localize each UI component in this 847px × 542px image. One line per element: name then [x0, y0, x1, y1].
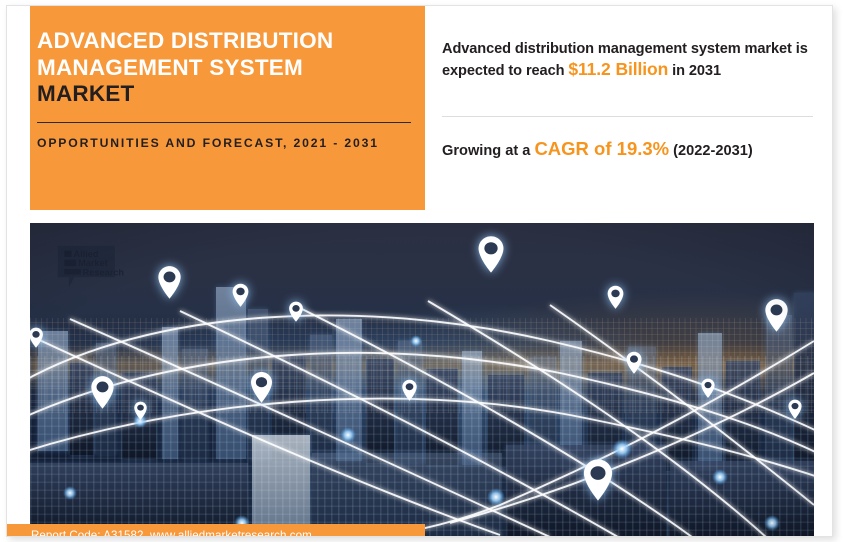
market-value-figure: $11.2 Billion: [568, 59, 668, 79]
report-card: ADVANCED DISTRIBUTION MANAGEMENT SYSTEM …: [6, 5, 833, 537]
title-line-2: MANAGEMENT SYSTEM: [37, 55, 405, 82]
allied-market-research-logo: Allied Market Research: [56, 244, 148, 292]
report-subtitle: OPPORTUNITIES AND FORECAST, 2021 - 2031: [37, 134, 413, 153]
cagr-statement: Growing at a CAGR of 19.3% (2022-2031): [442, 139, 817, 161]
cagr-period: (2022-2031): [669, 143, 753, 159]
market-value-statement: Advanced distribution management system …: [442, 40, 814, 81]
market-value-suffix: in 2031: [668, 63, 721, 79]
highlights-divider: [442, 116, 813, 117]
title-line-3: MARKET: [37, 81, 405, 108]
page-title: ADVANCED DISTRIBUTION MANAGEMENT SYSTEM …: [37, 28, 405, 108]
logo-line-3: Research: [83, 267, 125, 277]
cagr-prefix: Growing at a: [442, 143, 534, 159]
hero-image: Allied Market Research: [30, 223, 814, 537]
title-panel: ADVANCED DISTRIBUTION MANAGEMENT SYSTEM …: [30, 6, 425, 210]
title-line-1: ADVANCED DISTRIBUTION: [37, 28, 405, 55]
title-divider: [37, 122, 411, 123]
highlights-panel: Advanced distribution management system …: [442, 6, 822, 210]
cagr-figure: CAGR of 19.3%: [534, 138, 669, 159]
report-code-footer: Report Code: A31582, www.alliedmarketres…: [31, 529, 312, 537]
